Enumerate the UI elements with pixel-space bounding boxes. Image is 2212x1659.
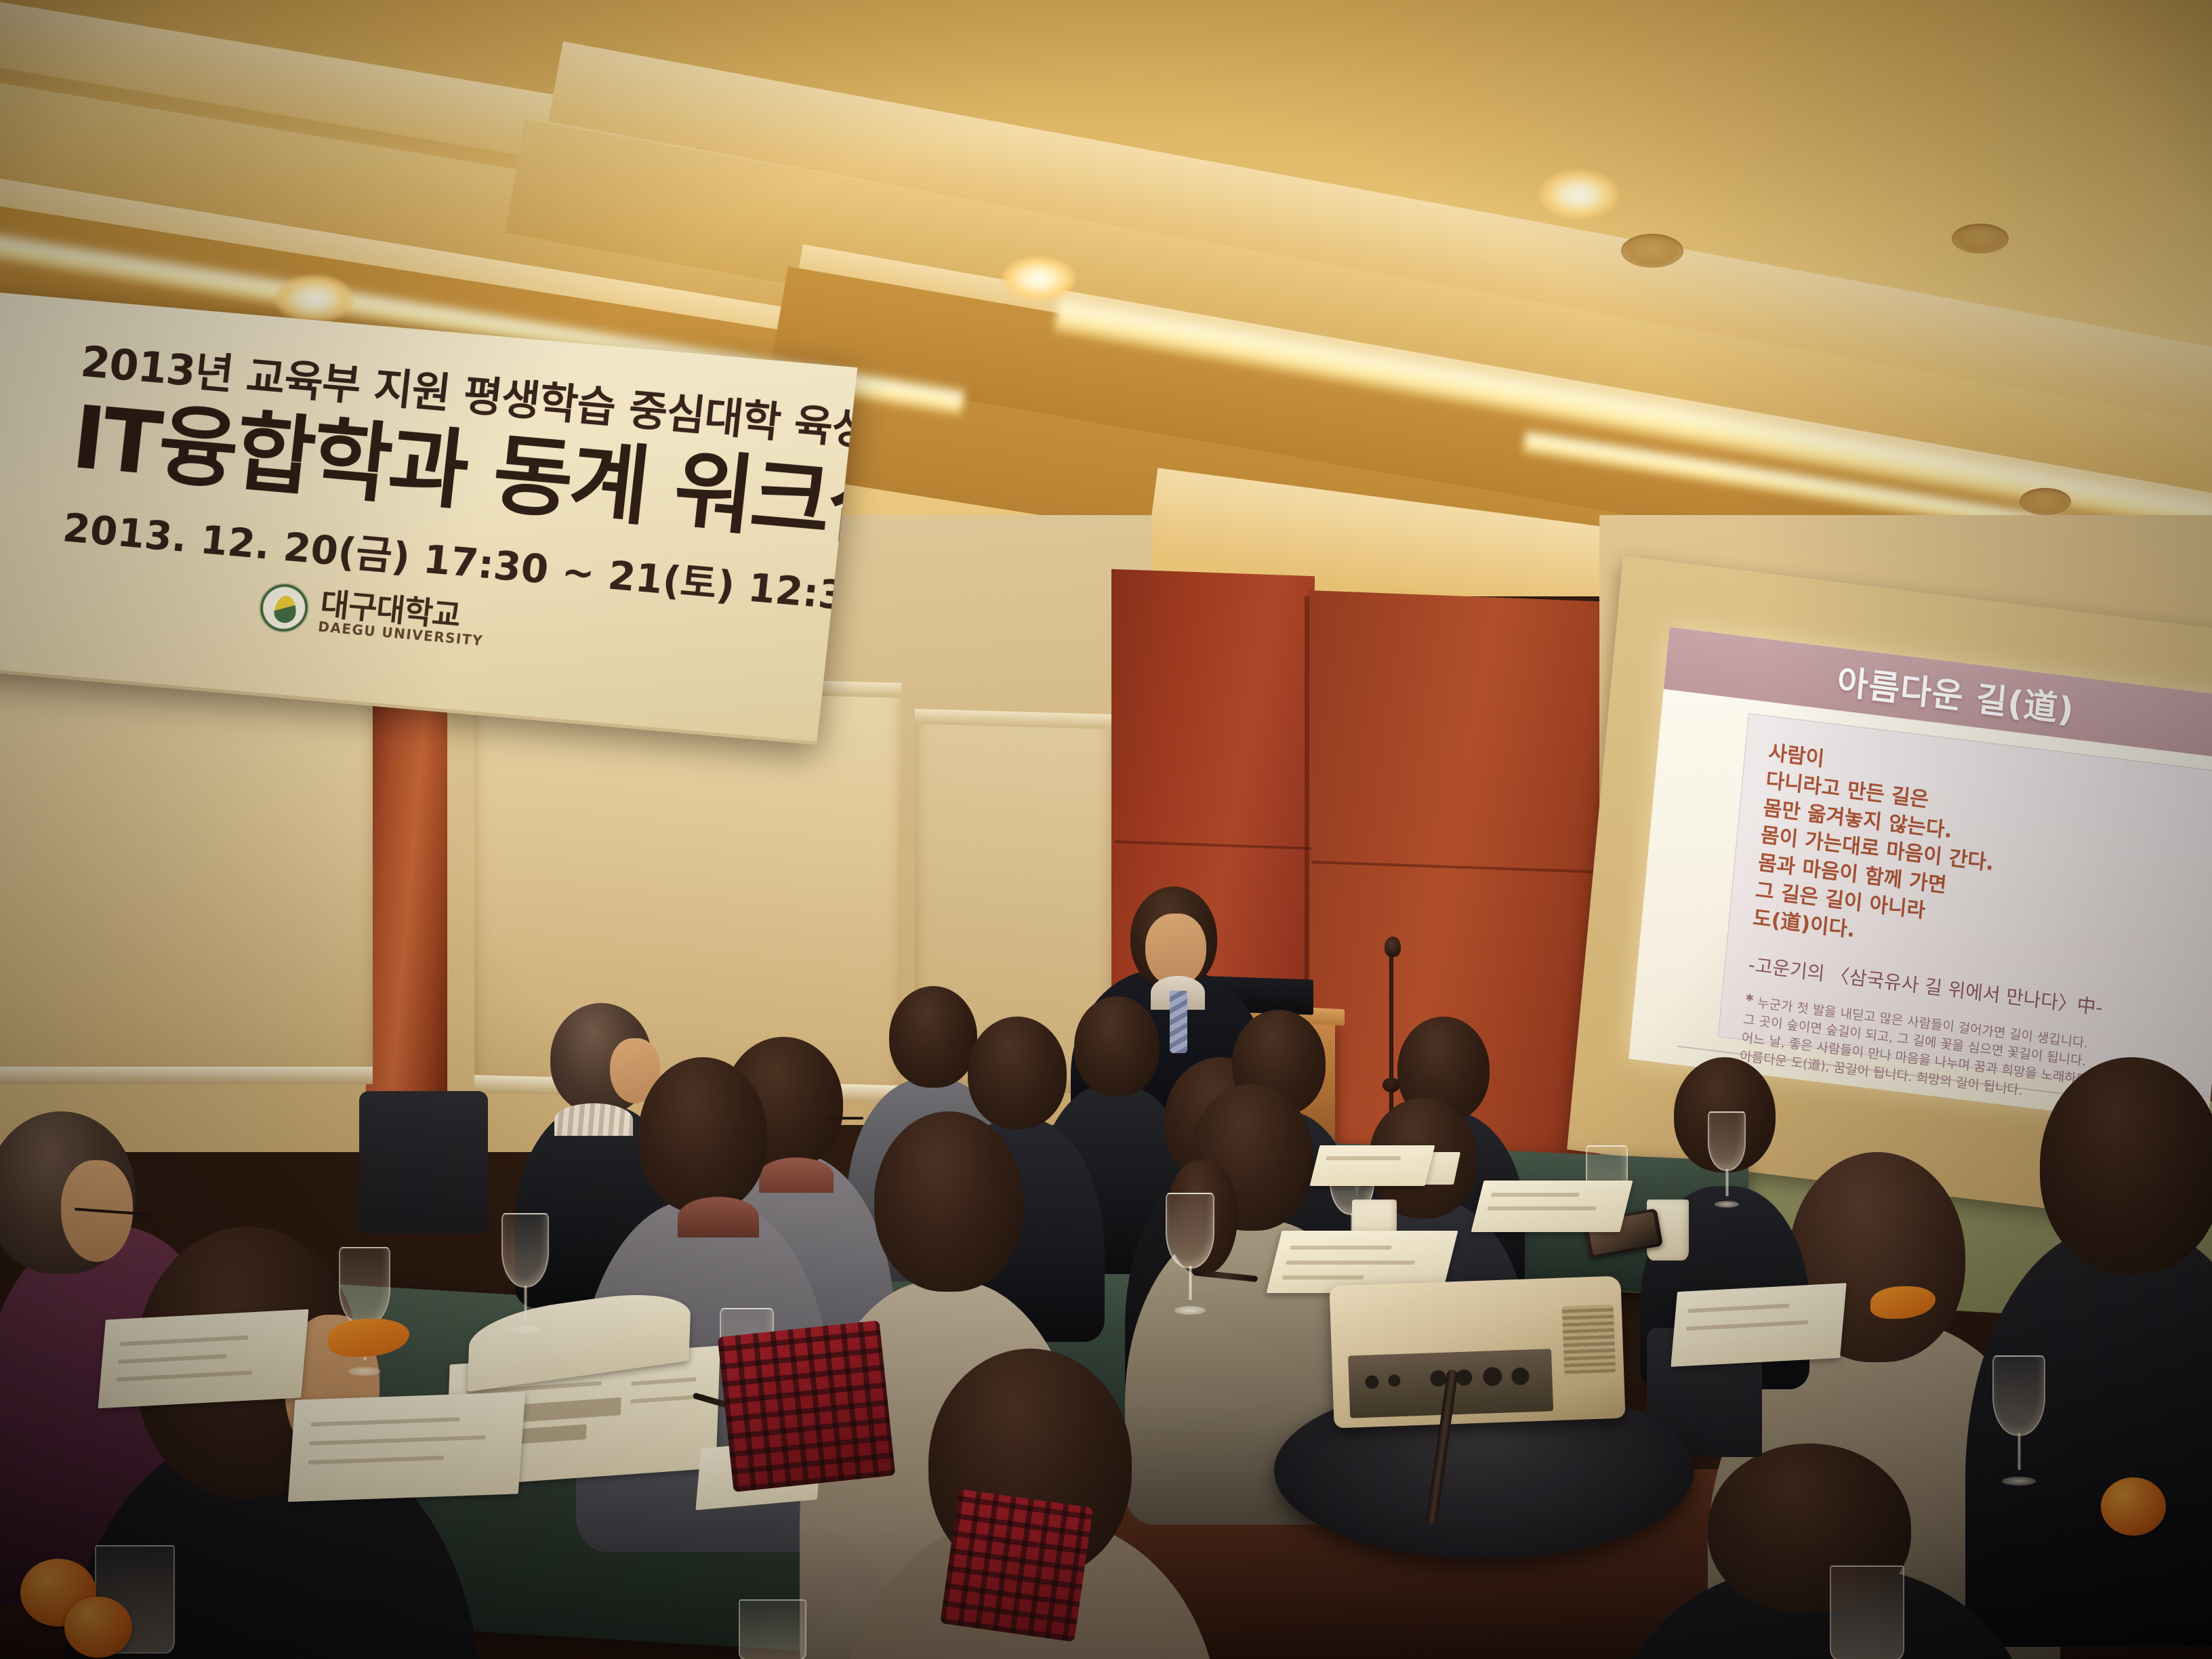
ceiling-downlight-off <box>2020 488 2071 515</box>
water-tumbler[interactable] <box>1830 1565 1904 1659</box>
papers-under-arm[interactable] <box>288 1392 525 1502</box>
chair <box>359 1091 488 1233</box>
wine-glass[interactable] <box>1708 1111 1746 1208</box>
roller-screen-center <box>474 672 901 1103</box>
booklet-on-table[interactable] <box>1671 1283 1846 1367</box>
ceiling-downlight <box>1538 169 1620 220</box>
presenter-necktie <box>1170 991 1187 1053</box>
microphone-icon <box>1385 937 1401 957</box>
mandarin-orange <box>2101 1477 2166 1536</box>
booklet-on-table[interactable] <box>1471 1181 1633 1232</box>
water-tumbler[interactable] <box>739 1599 806 1659</box>
presentation-slide: 아름다운 길(道) 사람이 다니라고 만든 길은 몸만 옮겨놓지 않는다. 몸이… <box>1629 627 2212 1130</box>
booklet-on-table[interactable] <box>1310 1145 1435 1186</box>
slide-poem: 사람이 다니라고 만든 길은 몸만 옮겨놓지 않는다. 몸이 가는대로 마음이 … <box>1752 739 2212 989</box>
ceiling-downlight-off <box>1952 224 2009 253</box>
ceiling-downlight <box>1002 256 1076 301</box>
papers-front-left[interactable] <box>98 1309 308 1408</box>
wine-glass[interactable] <box>501 1213 549 1334</box>
footnote-star-icon: ✱ <box>1745 991 1755 1004</box>
plaid-bag <box>718 1320 896 1492</box>
eyeglasses <box>825 1117 863 1120</box>
projector-vent <box>1562 1305 1616 1374</box>
slide-body-panel: 사람이 다니라고 만든 길은 몸만 옮겨놓지 않는다. 몸이 가는대로 마음이 … <box>1718 713 2212 1098</box>
ceiling-downlight-off <box>1621 234 1683 268</box>
wine-glass[interactable] <box>1166 1193 1214 1315</box>
ceiling-downlight <box>274 274 354 323</box>
projector <box>1329 1276 1625 1429</box>
conference-room-photo: 2013년 교육부 지원 평생학습 중심대학 육성사업 IT융합학과 동계 워크… <box>0 0 2212 1659</box>
wine-glass[interactable] <box>1992 1355 2045 1486</box>
slide-title: 아름다운 길(道) <box>1835 655 2076 733</box>
wall-pillar-wood <box>366 651 447 1139</box>
event-banner: 2013년 교육부 지원 평생학습 중심대학 육성사업 IT융합학과 동계 워크… <box>0 291 857 745</box>
roller-screen-left <box>0 651 373 1084</box>
plaid-scarf <box>940 1489 1093 1642</box>
mandarin-orange <box>64 1597 132 1658</box>
daegu-university-emblem-icon <box>256 581 312 635</box>
